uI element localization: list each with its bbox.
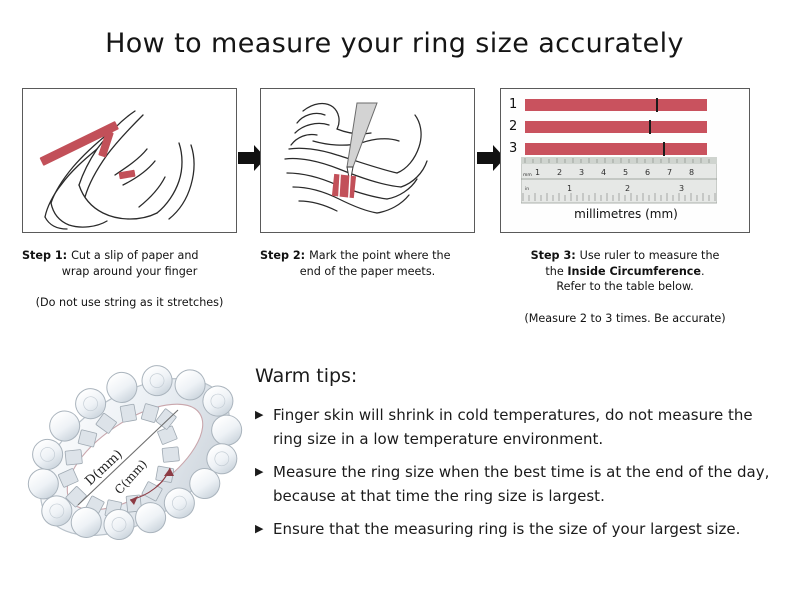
tip-item: ▶ Measure the ring size when the best ti… (255, 460, 775, 508)
strip-row: 1 (509, 97, 750, 113)
red-paper-band (332, 174, 356, 198)
ruler-illustration: 12 34 56 78 mm 12 3 in (521, 157, 717, 205)
paper-strips-group: 1 2 3 (509, 97, 750, 163)
svg-text:3: 3 (579, 168, 584, 177)
tip-item: ▶ Finger skin will shrink in cold temper… (255, 403, 775, 451)
warm-tips-section: Warm tips: ▶ Finger skin will shrink in … (255, 365, 775, 550)
bullet-triangle-icon: ▶ (255, 403, 273, 427)
svg-text:1: 1 (567, 184, 572, 193)
strip-number: 1 (509, 97, 525, 113)
bullet-triangle-icon: ▶ (255, 460, 273, 484)
step-3-line2-bold: Inside Circumference (567, 265, 701, 278)
step-3-note: (Measure 2 to 3 times. Be accurate) (500, 311, 750, 326)
step-3-label: Step 3: (531, 249, 580, 262)
step-2-label: Step 2: (260, 249, 309, 262)
steps-row: Step 1: Cut a slip of paper and wrap aro… (0, 88, 789, 338)
ring-diagram: D(mm) C(mm) (18, 350, 253, 565)
hand-with-paper-slip-illustration (23, 89, 237, 233)
svg-text:2: 2 (625, 184, 630, 193)
svg-text:6: 6 (645, 168, 650, 177)
page-title: How to measure your ring size accurately (0, 28, 789, 59)
svg-text:3: 3 (679, 184, 684, 193)
step-2-line1: Mark the point where the (309, 249, 450, 262)
tip-text: Ensure that the measuring ring is the si… (273, 517, 775, 541)
step-3-line2-pre: the (545, 265, 567, 278)
strip-row: 2 (509, 119, 750, 135)
step-3-column: 1 2 3 (500, 88, 750, 326)
svg-text:mm: mm (523, 173, 532, 178)
tip-text: Measure the ring size when the best time… (273, 460, 775, 508)
step-1-note: (Do not use string as it stretches) (22, 295, 237, 310)
svg-text:2: 2 (557, 168, 562, 177)
tip-item: ▶ Ensure that the measuring ring is the … (255, 517, 775, 541)
step-2-panel (260, 88, 475, 233)
hands-marking-paper-illustration (261, 89, 475, 233)
step-1-line1: Cut a slip of paper and (71, 249, 198, 262)
svg-text:in: in (525, 186, 529, 192)
strip-number: 2 (509, 119, 525, 135)
step-2-caption: Step 2: Mark the point where the end of … (260, 248, 475, 279)
svg-text:8: 8 (689, 168, 694, 177)
step-3-line3: Refer to the table below. (500, 279, 750, 295)
strip-mark (663, 142, 665, 156)
strip-bar (525, 99, 707, 111)
svg-text:7: 7 (667, 168, 672, 177)
strip-bar (525, 121, 707, 133)
step-3-line2-post: . (701, 265, 705, 278)
step-3-panel: 1 2 3 (500, 88, 750, 233)
strip-number: 3 (509, 141, 525, 157)
svg-text:5: 5 (623, 168, 628, 177)
step-1-column: Step 1: Cut a slip of paper and wrap aro… (22, 88, 237, 310)
warm-tips-heading: Warm tips: (255, 365, 775, 387)
step-1-caption: Step 1: Cut a slip of paper and wrap aro… (22, 248, 237, 279)
step-3-line1: Use ruler to measure the (580, 249, 720, 262)
step-1-label: Step 1: (22, 249, 71, 262)
step-1-panel (22, 88, 237, 233)
strip-mark (656, 98, 658, 112)
strip-mark (649, 120, 651, 134)
svg-text:4: 4 (601, 168, 606, 177)
strip-bar (525, 143, 707, 155)
step-2-line2: end of the paper meets. (260, 264, 475, 280)
ruler-unit-label: millimetres (mm) (501, 207, 750, 221)
step-2-column: Step 2: Mark the point where the end of … (260, 88, 475, 295)
svg-text:1: 1 (535, 168, 540, 177)
bullet-triangle-icon: ▶ (255, 517, 273, 541)
tip-text: Finger skin will shrink in cold temperat… (273, 403, 775, 451)
step-3-caption: Step 3: Use ruler to measure the the Ins… (500, 248, 750, 295)
strip-row: 3 (509, 141, 750, 157)
lower-section: D(mm) C(mm) Warm tips: ▶ Finger skin wil… (0, 345, 789, 595)
step-1-line2: wrap around your finger (22, 264, 237, 280)
